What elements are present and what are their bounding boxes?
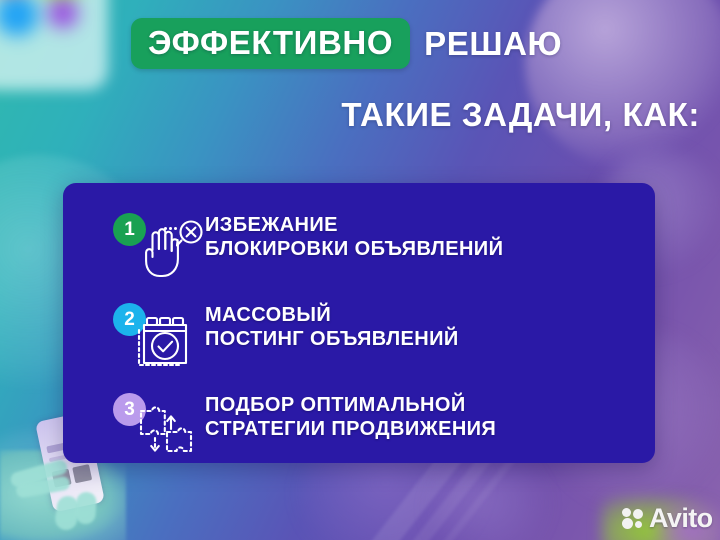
list-item-line-2: БЛОКИРОВКИ ОБЪЯВЛЕНИЙ	[205, 237, 503, 261]
purple-app-dot-icon	[48, 0, 78, 28]
headline-highlight-pill: ЭФФЕКТИВНО	[131, 18, 410, 69]
list-item-text: МАССОВЫЙ ПОСТИНГ ОБЪЯВЛЕНИЙ	[205, 299, 459, 352]
calendar-check-icon	[131, 309, 197, 371]
avito-wordmark: Avito	[649, 505, 713, 532]
phone-tile	[72, 464, 92, 483]
decor-blob-bottom-center-2	[430, 455, 550, 540]
list-item: 2 МА	[113, 299, 641, 375]
benefits-card: 1	[63, 183, 655, 463]
avito-dots-icon	[622, 508, 644, 529]
headline-rest-text: РЕШАЮ	[424, 27, 562, 60]
puzzle-swap-icon	[131, 399, 201, 459]
list-item-text: ПОДБОР ОПТИМАЛЬНОЙ СТРАТЕГИИ ПРОДВИЖЕНИЯ	[205, 389, 496, 442]
promo-banner: ЭФФЕКТИВНО РЕШАЮ ТАКИЕ ЗАДАЧИ, КАК: 1	[0, 0, 720, 540]
list-item-line-1: МАССОВЫЙ	[205, 303, 459, 327]
list-item-line-2: ПОСТИНГ ОБЪЯВЛЕНИЙ	[205, 327, 459, 351]
badge-and-icon: 3	[113, 389, 205, 463]
list-item-line-2: СТРАТЕГИИ ПРОДВИЖЕНИЯ	[205, 417, 496, 441]
headline-line-1: ЭФФЕКТИВНО РЕШАЮ	[131, 18, 562, 69]
blue-app-dot-icon	[0, 0, 38, 36]
finger-shape	[75, 491, 97, 524]
list-item: 3 ПОДБОР ОПТИМАЛЬНОЙ СТР	[113, 389, 641, 463]
list-item-line-1: ПОДБОР ОПТИМАЛЬНОЙ	[205, 393, 496, 417]
hand-stop-block-icon	[131, 219, 205, 281]
list-item-line-1: ИЗБЕЖАНИЕ	[205, 213, 503, 237]
benefits-list: 1	[113, 209, 641, 463]
badge-and-icon: 1	[113, 209, 205, 285]
headline-line-2: ТАКИЕ ЗАДАЧИ, КАК:	[0, 96, 700, 134]
app-grid-photo	[0, 0, 108, 90]
headline-highlight-text: ЭФФЕКТИВНО	[148, 24, 393, 61]
list-item: 1	[113, 209, 641, 285]
list-item-text: ИЗБЕЖАНИЕ БЛОКИРОВКИ ОБЪЯВЛЕНИЙ	[205, 209, 503, 262]
avito-logo: Avito	[622, 505, 713, 532]
badge-and-icon: 2	[113, 299, 205, 375]
